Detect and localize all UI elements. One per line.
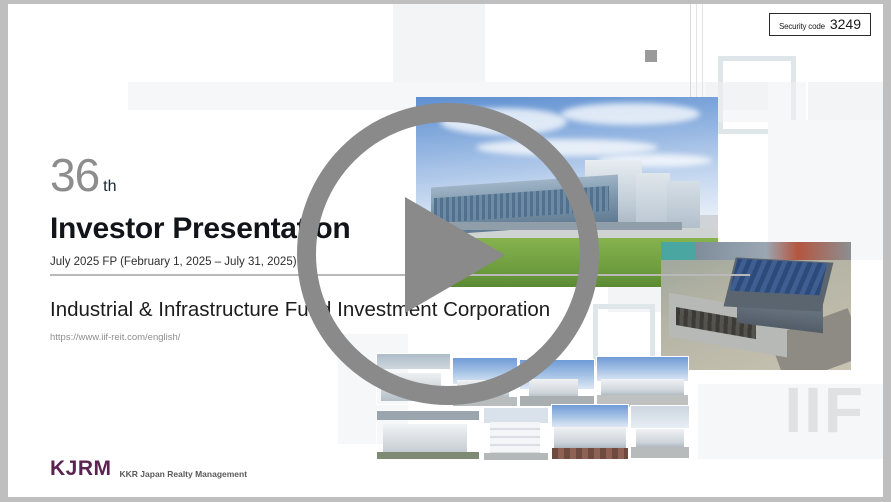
edition-number: 36 [50, 152, 99, 198]
bg-panel-right-3 [768, 120, 883, 260]
video-player[interactable]: IIF [0, 0, 891, 502]
aerial-warehouse-photo [661, 242, 851, 370]
thumbnail-factory-exterior [596, 356, 689, 408]
kjrm-wordmark: KJRM [50, 458, 112, 479]
thumbnail-multistory-warehouse [483, 407, 549, 461]
kjrm-subtitle: KKR Japan Realty Management [120, 470, 248, 480]
bg-panel-right-2 [808, 82, 883, 120]
kjrm-logo: KJRM KKR Japan Realty Management [50, 458, 247, 479]
play-button[interactable] [297, 103, 599, 405]
security-code-badge: Security code 3249 [769, 13, 871, 36]
thumbnail-low-rise-plant [630, 405, 690, 459]
thumbnail-aerial-logistics-complex [376, 410, 480, 460]
video-stage: IIF [8, 4, 883, 497]
security-code-label: Security code [779, 23, 825, 31]
bg-square-marker [645, 50, 657, 62]
edition-suffix: th [103, 179, 116, 195]
security-code-value: 3249 [830, 17, 861, 31]
bg-panel-right-1 [706, 82, 806, 122]
bg-panel-top-center [393, 4, 485, 82]
thumbnail-loading-dock-facade [551, 404, 629, 460]
play-triangle-icon [405, 197, 505, 313]
iif-watermark: IIF [784, 378, 865, 442]
